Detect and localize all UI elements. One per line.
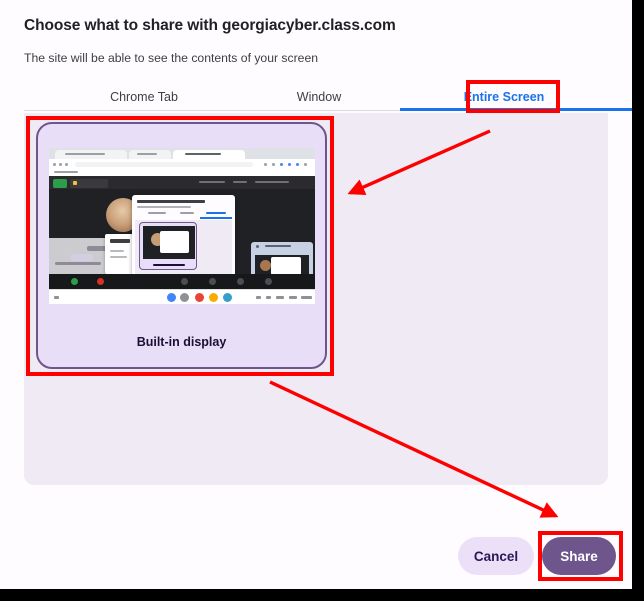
source-card-built-in-display[interactable]: Built-in display bbox=[36, 122, 327, 369]
source-card-label: Built-in display bbox=[38, 335, 325, 349]
screen-share-picker-screenshot: Choose what to share with georgiacyber.c… bbox=[0, 0, 644, 601]
thumb-browser-tab-active bbox=[173, 150, 245, 159]
tab-window[interactable]: Window bbox=[229, 83, 409, 111]
tab-entire-screen[interactable]: Entire Screen bbox=[404, 83, 604, 111]
thumb-os-taskbar bbox=[49, 289, 315, 304]
thumb-nested-source-card bbox=[139, 222, 197, 270]
screen-share-dialog: Choose what to share with georgiacyber.c… bbox=[0, 0, 632, 589]
thumb-browser-tab bbox=[55, 150, 127, 159]
tab-strip: Chrome Tab Window Entire Screen bbox=[24, 83, 608, 111]
share-button[interactable]: Share bbox=[542, 537, 616, 575]
thumb-url-pill bbox=[75, 162, 253, 167]
thumb-nested-dialog-subtitle bbox=[137, 206, 191, 208]
active-tab-underline bbox=[400, 108, 632, 111]
source-thumbnail-preview bbox=[49, 148, 315, 304]
cancel-button[interactable]: Cancel bbox=[458, 537, 534, 575]
thumb-meeting-topbar bbox=[49, 176, 315, 189]
thumb-green-button bbox=[53, 179, 67, 188]
tab-chrome-tab[interactable]: Chrome Tab bbox=[54, 83, 234, 111]
thumb-bookmarks-bar bbox=[49, 169, 315, 176]
thumb-browser-tab bbox=[129, 150, 171, 159]
thumb-yellow-pill bbox=[70, 179, 108, 188]
thumb-nested-source-panel bbox=[135, 220, 232, 282]
thumb-meeting-stage bbox=[49, 176, 315, 289]
dialog-subtitle: The site will be able to see the content… bbox=[24, 51, 318, 65]
thumb-browser-omnibox bbox=[49, 159, 315, 169]
thumb-nested-dialog-title bbox=[137, 200, 205, 203]
thumb-meeting-controls bbox=[49, 274, 315, 289]
page-title: Choose what to share with georgiacyber.c… bbox=[24, 17, 396, 35]
